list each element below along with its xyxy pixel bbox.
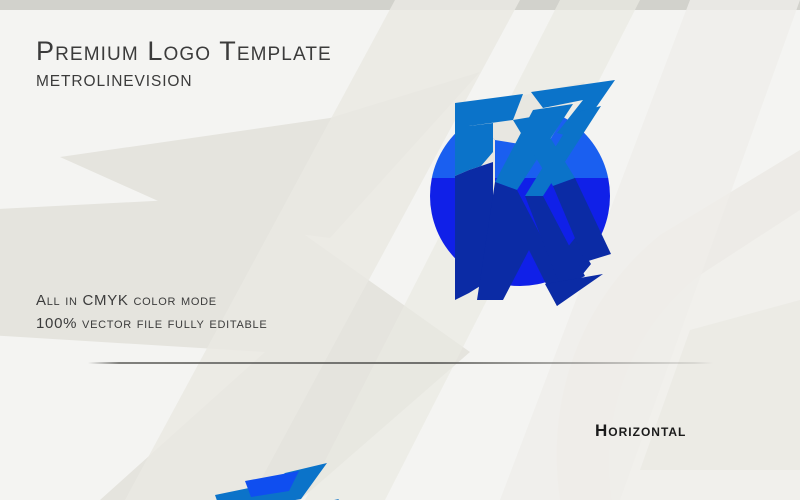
horizontal-divider — [88, 362, 713, 364]
logo-mark-primary — [425, 78, 630, 310]
logo-mark-secondary-cropped — [215, 455, 375, 500]
title-block: Premium Logo Template METROLINEVISION — [36, 36, 332, 91]
features-block: All in CMYK color mode 100% vector file … — [36, 290, 267, 335]
logo-template-canvas: Premium Logo Template METROLINEVISION — [0, 0, 800, 500]
page-title: Premium Logo Template — [36, 36, 332, 67]
brand-subtitle: METROLINEVISION — [36, 73, 332, 91]
feature-line-vector: 100% vector file fully editable — [36, 313, 267, 336]
orientation-label: Horizontal — [595, 421, 686, 441]
top-accent-band — [0, 0, 800, 10]
feature-line-cmyk: All in CMYK color mode — [36, 290, 267, 313]
